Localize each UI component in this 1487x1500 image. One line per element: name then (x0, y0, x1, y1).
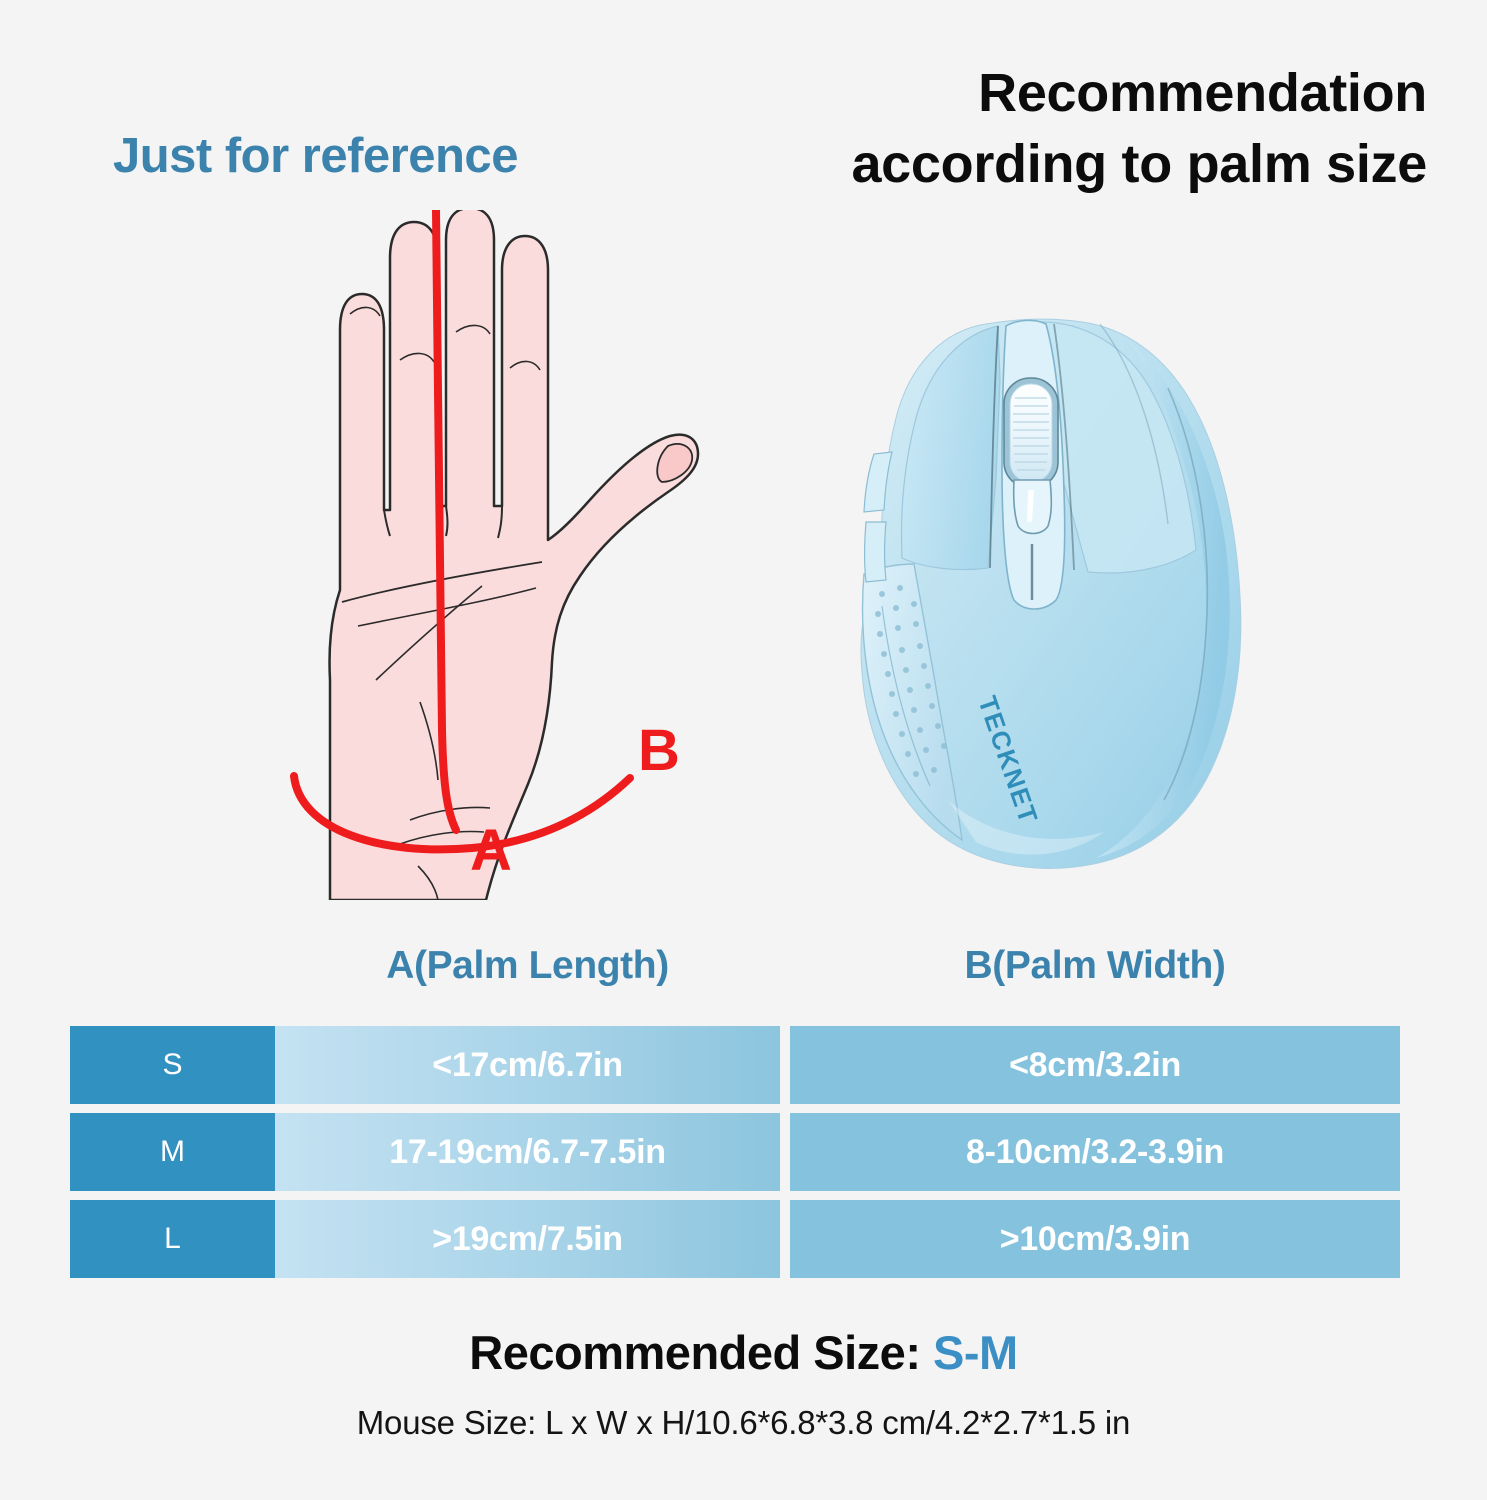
table-row: S <17cm/6.7in <8cm/3.2in (70, 1026, 1400, 1104)
palm-length-value-m: 17-19cm/6.7-7.5in (275, 1113, 780, 1191)
hand-shape-icon (329, 210, 698, 900)
mouse-image: TECKNET (838, 300, 1268, 880)
recommended-size-line: Recommended Size: S-M (0, 1325, 1487, 1380)
size-label-m: M (70, 1113, 275, 1191)
palm-width-value-m: 8-10cm/3.2-3.9in (790, 1113, 1400, 1191)
recommended-size-label: Recommended Size: (469, 1326, 920, 1379)
column-header-palm-length: A(Palm Length) (275, 944, 780, 988)
infographic-page: Just for reference Recommendation accord… (0, 0, 1487, 1500)
recommended-size-value: S-M (933, 1326, 1018, 1379)
label-b-text: B (638, 718, 680, 783)
palm-width-value-s: <8cm/3.2in (790, 1026, 1400, 1104)
reference-title: Just for reference (113, 128, 518, 184)
table-row: L >19cm/7.5in >10cm/3.9in (70, 1200, 1400, 1278)
page-title-line-2: according to palm size (587, 129, 1427, 200)
size-label-s: S (70, 1026, 275, 1104)
palm-width-value-l: >10cm/3.9in (790, 1200, 1400, 1278)
scroll-wheel (1010, 384, 1052, 482)
palm-length-value-l: >19cm/7.5in (275, 1200, 780, 1278)
page-title: Recommendation according to palm size (587, 58, 1427, 201)
column-gap (780, 1026, 790, 1104)
hand-diagram: A B (270, 210, 740, 900)
table-row: M 17-19cm/6.7-7.5in 8-10cm/3.2-3.9in (70, 1113, 1400, 1191)
mouse-size-line: Mouse Size: L x W x H/10.6*6.8*3.8 cm/4.… (0, 1404, 1487, 1442)
size-label-l: L (70, 1200, 275, 1278)
palm-length-value-s: <17cm/6.7in (275, 1026, 780, 1104)
column-header-palm-width: B(Palm Width) (790, 944, 1400, 988)
column-gap (780, 1113, 790, 1191)
size-table: S <17cm/6.7in <8cm/3.2in M 17-19cm/6.7-7… (70, 1026, 1400, 1278)
page-title-line-1: Recommendation (978, 63, 1427, 123)
mouse-body-shape (861, 319, 1241, 868)
column-gap (780, 1200, 790, 1278)
label-a-text: A (470, 818, 512, 883)
